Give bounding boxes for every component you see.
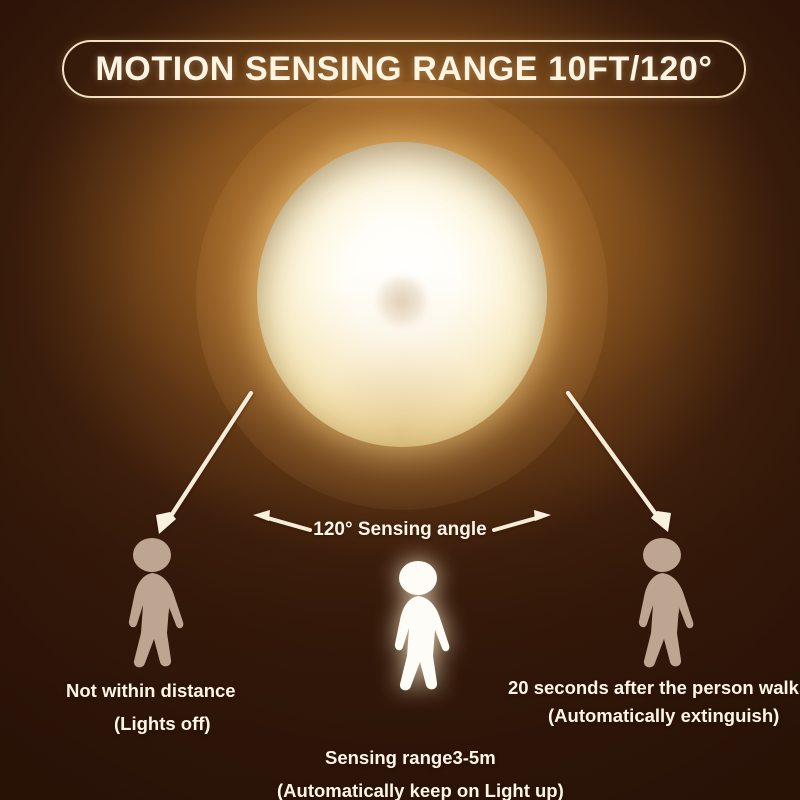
person-in-range-center — [378, 558, 464, 699]
caption-left-line1: Not within distance — [66, 680, 236, 702]
caption-right-line2: (Automatically extinguish) — [548, 705, 779, 727]
caption-center-line2: (Automatically keep on Light up) — [277, 780, 564, 800]
lamp-to-right-figure-arrow — [568, 393, 671, 532]
lamp-to-left-figure-arrow — [156, 393, 251, 534]
caption-left-line2: (Lights off) — [114, 713, 211, 735]
walking-person-icon — [378, 558, 464, 694]
caption-right-line1: 20 seconds after the person walks — [508, 677, 800, 699]
product-infographic: MOTION SENSING RANGE 10FT/120° — [0, 0, 800, 800]
person-out-of-range-right — [622, 535, 708, 676]
walking-person-icon — [622, 535, 708, 671]
caption-center-line1: Sensing range3-5m — [325, 747, 496, 769]
person-out-of-range-left — [112, 535, 198, 676]
walking-person-icon — [112, 535, 198, 671]
